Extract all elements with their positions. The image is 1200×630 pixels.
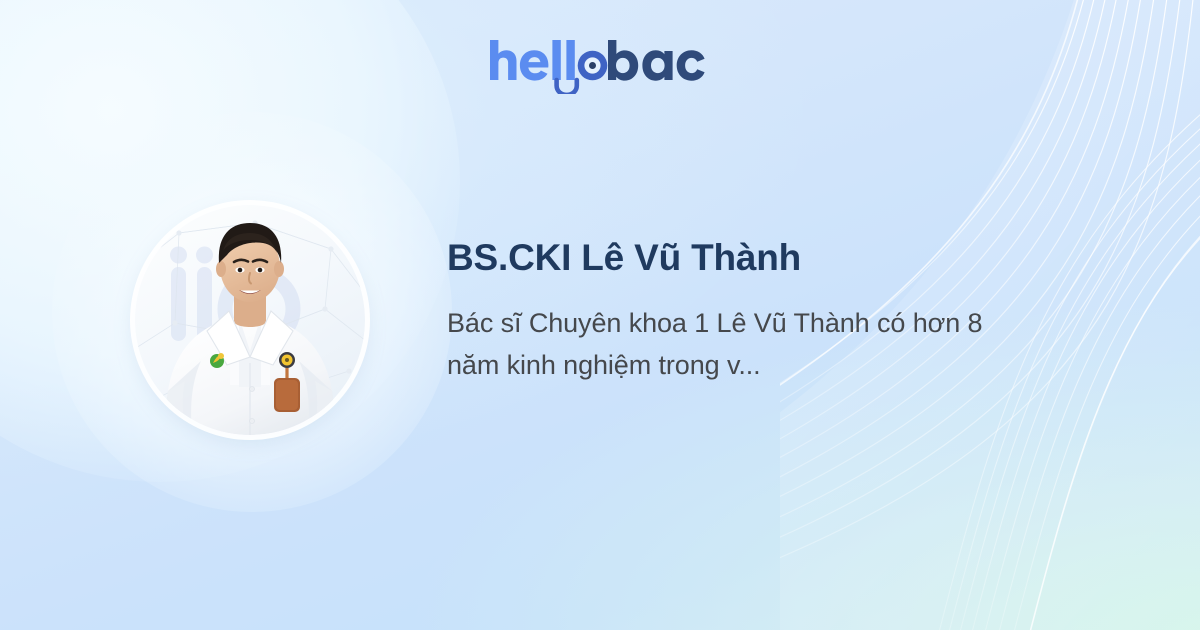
doctor-avatar[interactable] bbox=[135, 205, 365, 435]
doctor-info-block: BS.CKI Lê Vũ Thành Bác sĩ Chuyên khoa 1 … bbox=[447, 236, 1027, 386]
doctor-description: Bác sĩ Chuyên khoa 1 Lê Vũ Thành có hơn … bbox=[447, 280, 1027, 386]
logo-hello-text bbox=[490, 40, 575, 81]
doctor-name: BS.CKI Lê Vũ Thành bbox=[447, 236, 1027, 280]
brand-logo-container bbox=[0, 38, 1200, 99]
doctor-profile-card: BS.CKI Lê Vũ Thành Bác sĩ Chuyên khoa 1 … bbox=[0, 0, 1200, 630]
hellobacsi-logo[interactable] bbox=[488, 38, 712, 94]
stethoscope-chestpiece-icon bbox=[578, 51, 608, 81]
stethoscope-tube-icon bbox=[557, 80, 577, 94]
doctor-portrait-image bbox=[135, 205, 365, 435]
logo-bacsi-text bbox=[608, 40, 705, 81]
